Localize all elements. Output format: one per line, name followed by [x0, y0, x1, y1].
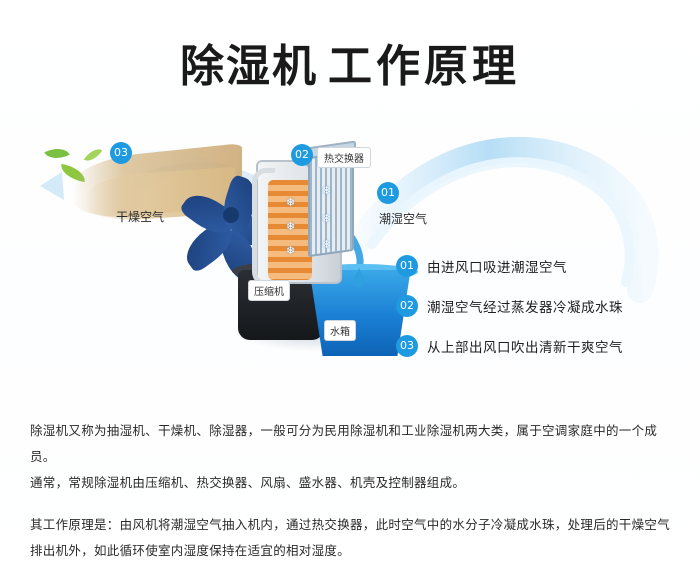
description-p2-line1: 其工作原理是：由风机将潮湿空气抽入机内，通过热交换器，此时空气中的水分子冷凝成水… [30, 512, 672, 538]
legend-badge-03: 03 [396, 335, 418, 357]
description-block: 除湿机又称为抽湿机、干燥机、除湿器，一般可分为民用除湿机和工业除湿机两大类，属于… [30, 418, 672, 580]
description-p1-line2: 通常，常规除湿机由压缩机、热交换器、风扇、盛水器、机壳及控制器组成。 [30, 470, 672, 496]
page-title: 除湿机工作原理 [0, 30, 700, 94]
dry-air-label: 干燥空气 [116, 208, 164, 225]
description-paragraph-1: 除湿机又称为抽湿机、干燥机、除湿器，一般可分为民用除湿机和工业除湿机两大类，属于… [30, 418, 672, 496]
snowflake-icon: ❄ [322, 212, 331, 225]
compressor-label: 压缩机 [248, 280, 290, 301]
water-tank-label: 水箱 [324, 320, 356, 341]
heat-exchanger-label: 热交换器 [317, 147, 371, 168]
legend-badge-02: 02 [396, 295, 418, 317]
humid-air-label: 潮湿空气 [379, 210, 427, 227]
snowflake-icon: ❄ [322, 238, 331, 251]
legend-item: 01 由进风口吸进潮湿空气 [396, 255, 686, 277]
description-paragraph-2: 其工作原理是：由风机将潮湿空气抽入机内，通过热交换器，此时空气中的水分子冷凝成水… [30, 512, 672, 564]
snowflake-icon: ❄ [286, 244, 295, 257]
marker-03-badge: 03 [110, 142, 132, 164]
legend-text-02: 潮湿空气经过蒸发器冷凝成水珠 [427, 296, 623, 316]
title-main: 除湿机 [180, 41, 318, 92]
page-root: 除湿机工作原理 [0, 0, 700, 566]
legend-text-01: 由进风口吸进潮湿空气 [427, 256, 567, 276]
description-p2-line2: 排出机外，如此循环使室内湿度保持在适宜的相对湿度。 [30, 538, 672, 564]
legend-badge-01: 01 [396, 255, 418, 277]
description-p1-line1: 除湿机又称为抽湿机、干燥机、除湿器，一般可分为民用除湿机和工业除湿机两大类，属于… [30, 418, 672, 470]
marker-01-badge: 01 [377, 182, 399, 204]
snowflake-icon: ❄ [286, 220, 295, 233]
marker-02-badge: 02 [291, 144, 313, 166]
legend-item: 02 潮湿空气经过蒸发器冷凝成水珠 [396, 295, 686, 317]
snowflake-icon: ❄ [322, 184, 331, 197]
snowflake-icon: ❄ [286, 196, 295, 209]
legend-text-03: 从上部出风口吹出清新干爽空气 [427, 336, 623, 356]
legend-list: 01 由进风口吸进潮湿空气 02 潮湿空气经过蒸发器冷凝成水珠 03 从上部出风… [396, 255, 686, 375]
title-sub: 工作原理 [328, 41, 520, 92]
legend-item: 03 从上部出风口吹出清新干爽空气 [396, 335, 686, 357]
